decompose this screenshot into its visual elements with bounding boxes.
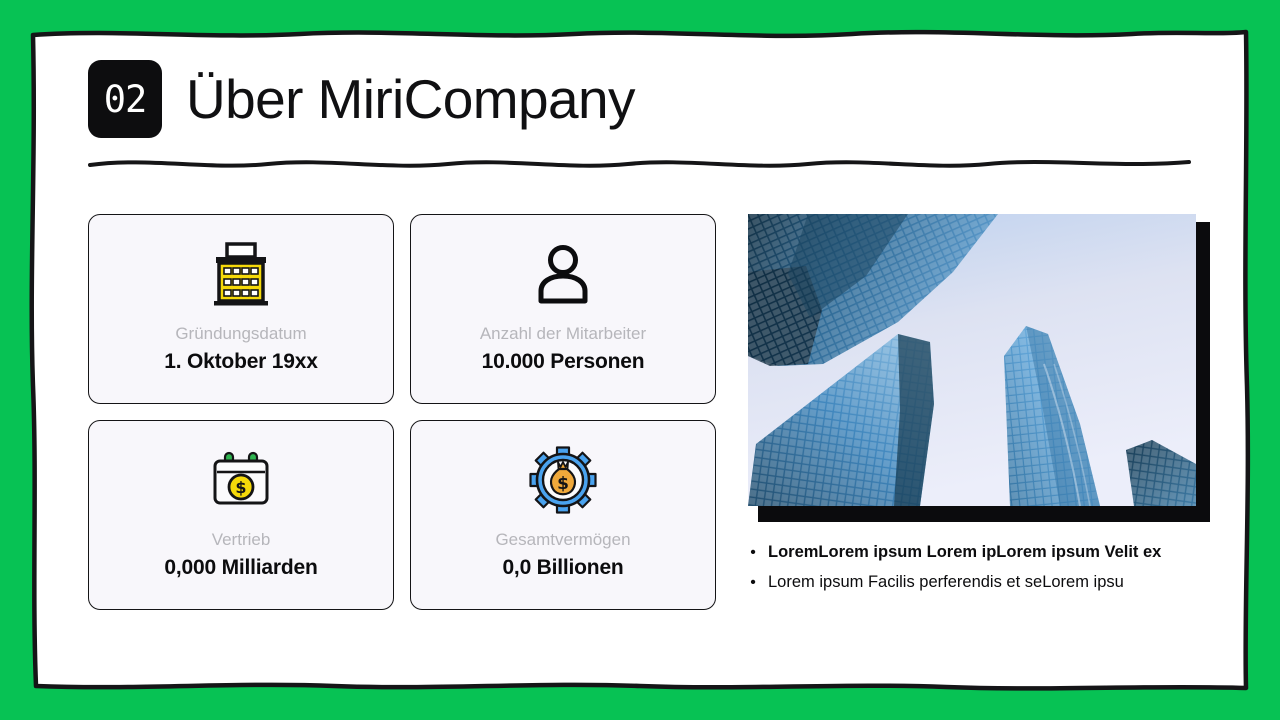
svg-text:$: $ [235, 478, 246, 497]
section-number-badge: 02 [88, 60, 162, 138]
stat-card-revenue[interactable]: $ Vertrieb 0,000 Milliarden [88, 420, 394, 610]
list-item: • Lorem ipsum Facilis perferendis et seL… [748, 572, 1208, 593]
bullet-marker-icon: • [748, 543, 758, 562]
stat-label: Vertrieb [212, 529, 271, 550]
media-column: • LoremLorem ipsum Lorem ipLorem ipsum V… [740, 214, 1220, 670]
photo-wrapper [748, 214, 1200, 514]
stat-label: Anzahl der Mitarbeiter [480, 323, 646, 344]
person-icon [534, 239, 592, 309]
list-item: • LoremLorem ipsum Lorem ipLorem ipsum V… [748, 542, 1208, 563]
office-building-icon [208, 239, 274, 309]
bullet-text: Lorem ipsum Facilis perferendis et seLor… [768, 572, 1124, 593]
bullet-list: • LoremLorem ipsum Lorem ipLorem ipsum V… [748, 542, 1208, 603]
calendar-money-icon: $ [209, 445, 273, 515]
section-number-text: 02 [104, 81, 147, 118]
stat-label: Gesamtvermögen [495, 529, 630, 550]
stat-card-founding-date[interactable]: Gründungsdatum 1. Oktober 19xx [88, 214, 394, 404]
skyscrapers-photo [748, 214, 1196, 506]
page-title: Über MiriCompany [186, 72, 635, 127]
stat-card-employee-count[interactable]: Anzahl der Mitarbeiter 10.000 Personen [410, 214, 716, 404]
bullet-text: LoremLorem ipsum Lorem ipLorem ipsum Vel… [768, 542, 1161, 563]
slide-frame: 02 Über MiriCompany [28, 26, 1252, 694]
wavy-divider [88, 152, 1191, 174]
bullet-marker-icon: • [748, 573, 758, 592]
stat-value: 0,0 Billionen [502, 555, 623, 581]
svg-text:$: $ [557, 474, 569, 494]
stat-value: 0,000 Milliarden [164, 555, 317, 581]
stat-value: 10.000 Personen [482, 349, 645, 375]
gear-money-bag-icon: $ [529, 445, 597, 515]
slide-content: Gründungsdatum 1. Oktober 19xx Anzahl de… [88, 214, 1220, 670]
stat-card-total-assets[interactable]: $ Gesamtvermögen 0,0 Billionen [410, 420, 716, 610]
stat-value: 1. Oktober 19xx [164, 349, 317, 375]
stats-grid: Gründungsdatum 1. Oktober 19xx Anzahl de… [88, 214, 716, 670]
stat-label: Gründungsdatum [175, 323, 306, 344]
slide-header: 02 Über MiriCompany [88, 60, 635, 138]
